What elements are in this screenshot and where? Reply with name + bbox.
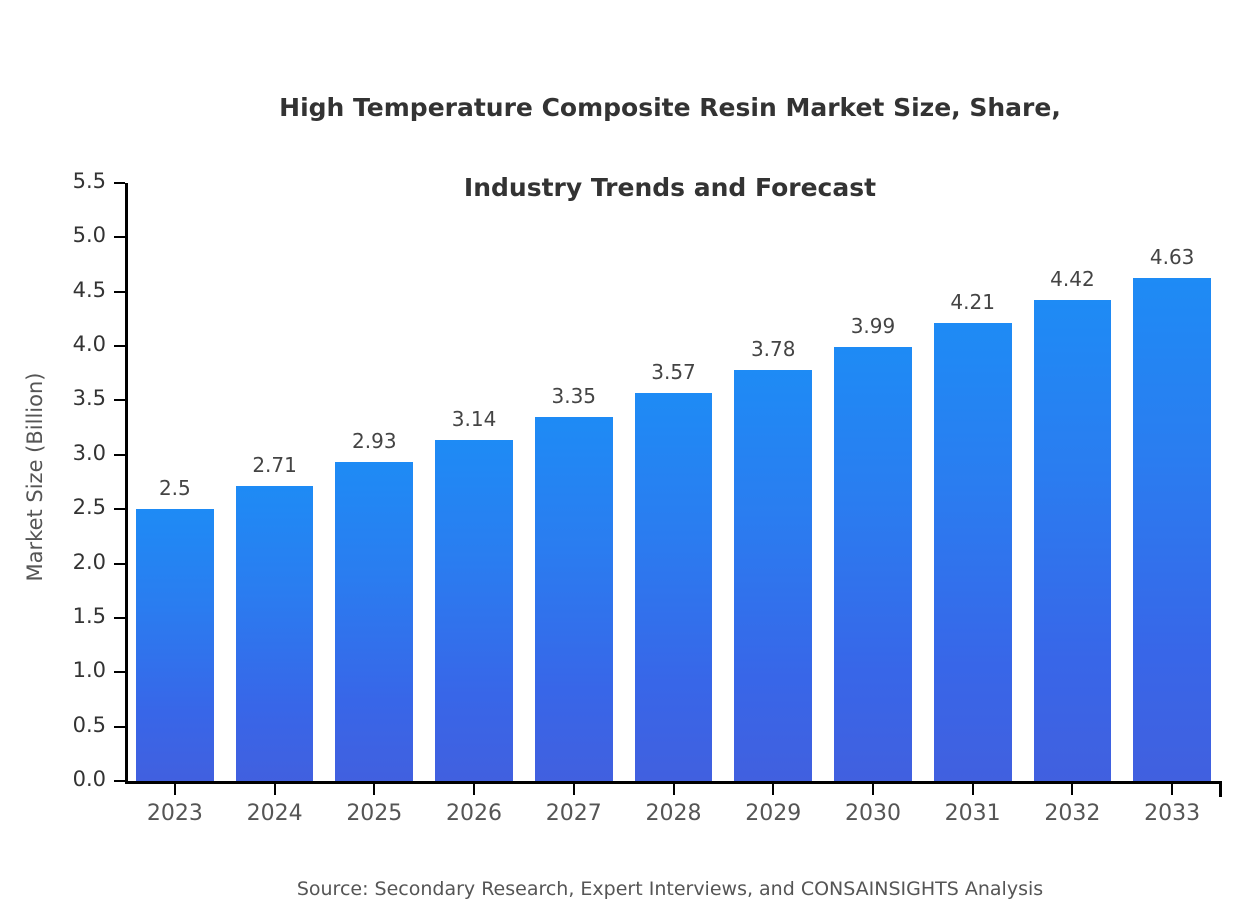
y-axis-tick-label: 5.5 xyxy=(36,169,106,193)
bar-value-label: 2.71 xyxy=(195,453,355,477)
y-axis-tick: 2.5 xyxy=(114,508,125,510)
chart-figure: High Temperature Composite Resin Market … xyxy=(0,0,1260,920)
bar-value-label: 3.78 xyxy=(693,337,853,361)
y-axis-tick-label: 1.0 xyxy=(36,658,106,682)
bar[interactable] xyxy=(1133,278,1211,781)
source-caption: Source: Secondary Research, Expert Inter… xyxy=(130,878,1210,900)
bar[interactable] xyxy=(236,486,314,781)
x-axis-tick xyxy=(373,784,375,795)
y-axis-tick-label: 2.0 xyxy=(36,550,106,574)
y-axis-tick: 5.0 xyxy=(114,236,125,238)
y-axis-tick: 3.5 xyxy=(114,399,125,401)
bar-value-label: 3.35 xyxy=(494,384,654,408)
y-axis-tick: 3.0 xyxy=(114,454,125,456)
bar-value-label: 4.42 xyxy=(992,267,1152,291)
bar[interactable] xyxy=(435,440,513,781)
y-axis-tick-label: 4.5 xyxy=(36,278,106,302)
x-axis-tick xyxy=(673,784,675,795)
bar-value-label: 4.63 xyxy=(1092,245,1252,269)
bar-value-label: 2.5 xyxy=(95,476,255,500)
bar-value-label: 2.93 xyxy=(294,429,454,453)
bar-value-label: 4.21 xyxy=(893,290,1053,314)
bar[interactable] xyxy=(136,509,214,781)
x-axis-tick xyxy=(473,784,475,795)
bar[interactable] xyxy=(535,417,613,781)
x-axis-tick xyxy=(174,784,176,795)
bar[interactable] xyxy=(834,347,912,781)
y-axis-tick-label: 3.5 xyxy=(36,386,106,410)
bar-value-label: 3.57 xyxy=(594,360,754,384)
y-axis-tick: 4.5 xyxy=(114,291,125,293)
y-axis-tick-label: 5.0 xyxy=(36,223,106,247)
bar[interactable] xyxy=(635,393,713,781)
bar[interactable] xyxy=(934,323,1012,781)
x-axis-tick-label: 2033 xyxy=(1102,801,1242,826)
y-axis-tick: 2.0 xyxy=(114,563,125,565)
y-axis-tick: 4.0 xyxy=(114,345,125,347)
x-axis-tick xyxy=(274,784,276,795)
bar[interactable] xyxy=(335,462,413,781)
y-axis-tick: 0.0 xyxy=(114,780,125,782)
x-axis-tick xyxy=(772,784,774,795)
x-axis-tick xyxy=(872,784,874,795)
y-axis-tick-label: 1.5 xyxy=(36,604,106,628)
bar-value-label: 3.99 xyxy=(793,314,953,338)
bar[interactable] xyxy=(1034,300,1112,781)
bar-value-label: 3.14 xyxy=(394,407,554,431)
x-axis-tick xyxy=(573,784,575,795)
y-axis-tick-label: 4.0 xyxy=(36,332,106,356)
y-axis-tick-label: 0.0 xyxy=(36,767,106,791)
y-axis-tick: 1.5 xyxy=(114,617,125,619)
chart-title-line-1: High Temperature Composite Resin Market … xyxy=(279,93,1061,122)
y-axis-tick-label: 0.5 xyxy=(36,713,106,737)
y-axis-tick: 0.5 xyxy=(114,726,125,728)
x-axis-tick xyxy=(1171,784,1173,795)
x-axis-tick xyxy=(1071,784,1073,795)
plot-area: 0.00.51.01.52.02.53.03.54.04.55.05.5 202… xyxy=(125,183,1222,781)
y-axis-tick: 1.0 xyxy=(114,671,125,673)
y-axis-tick: 5.5 xyxy=(114,182,125,184)
x-axis-tick xyxy=(972,784,974,795)
right-spine-stub xyxy=(1219,781,1222,797)
bar[interactable] xyxy=(734,370,812,781)
y-axis-tick-label: 3.0 xyxy=(36,441,106,465)
